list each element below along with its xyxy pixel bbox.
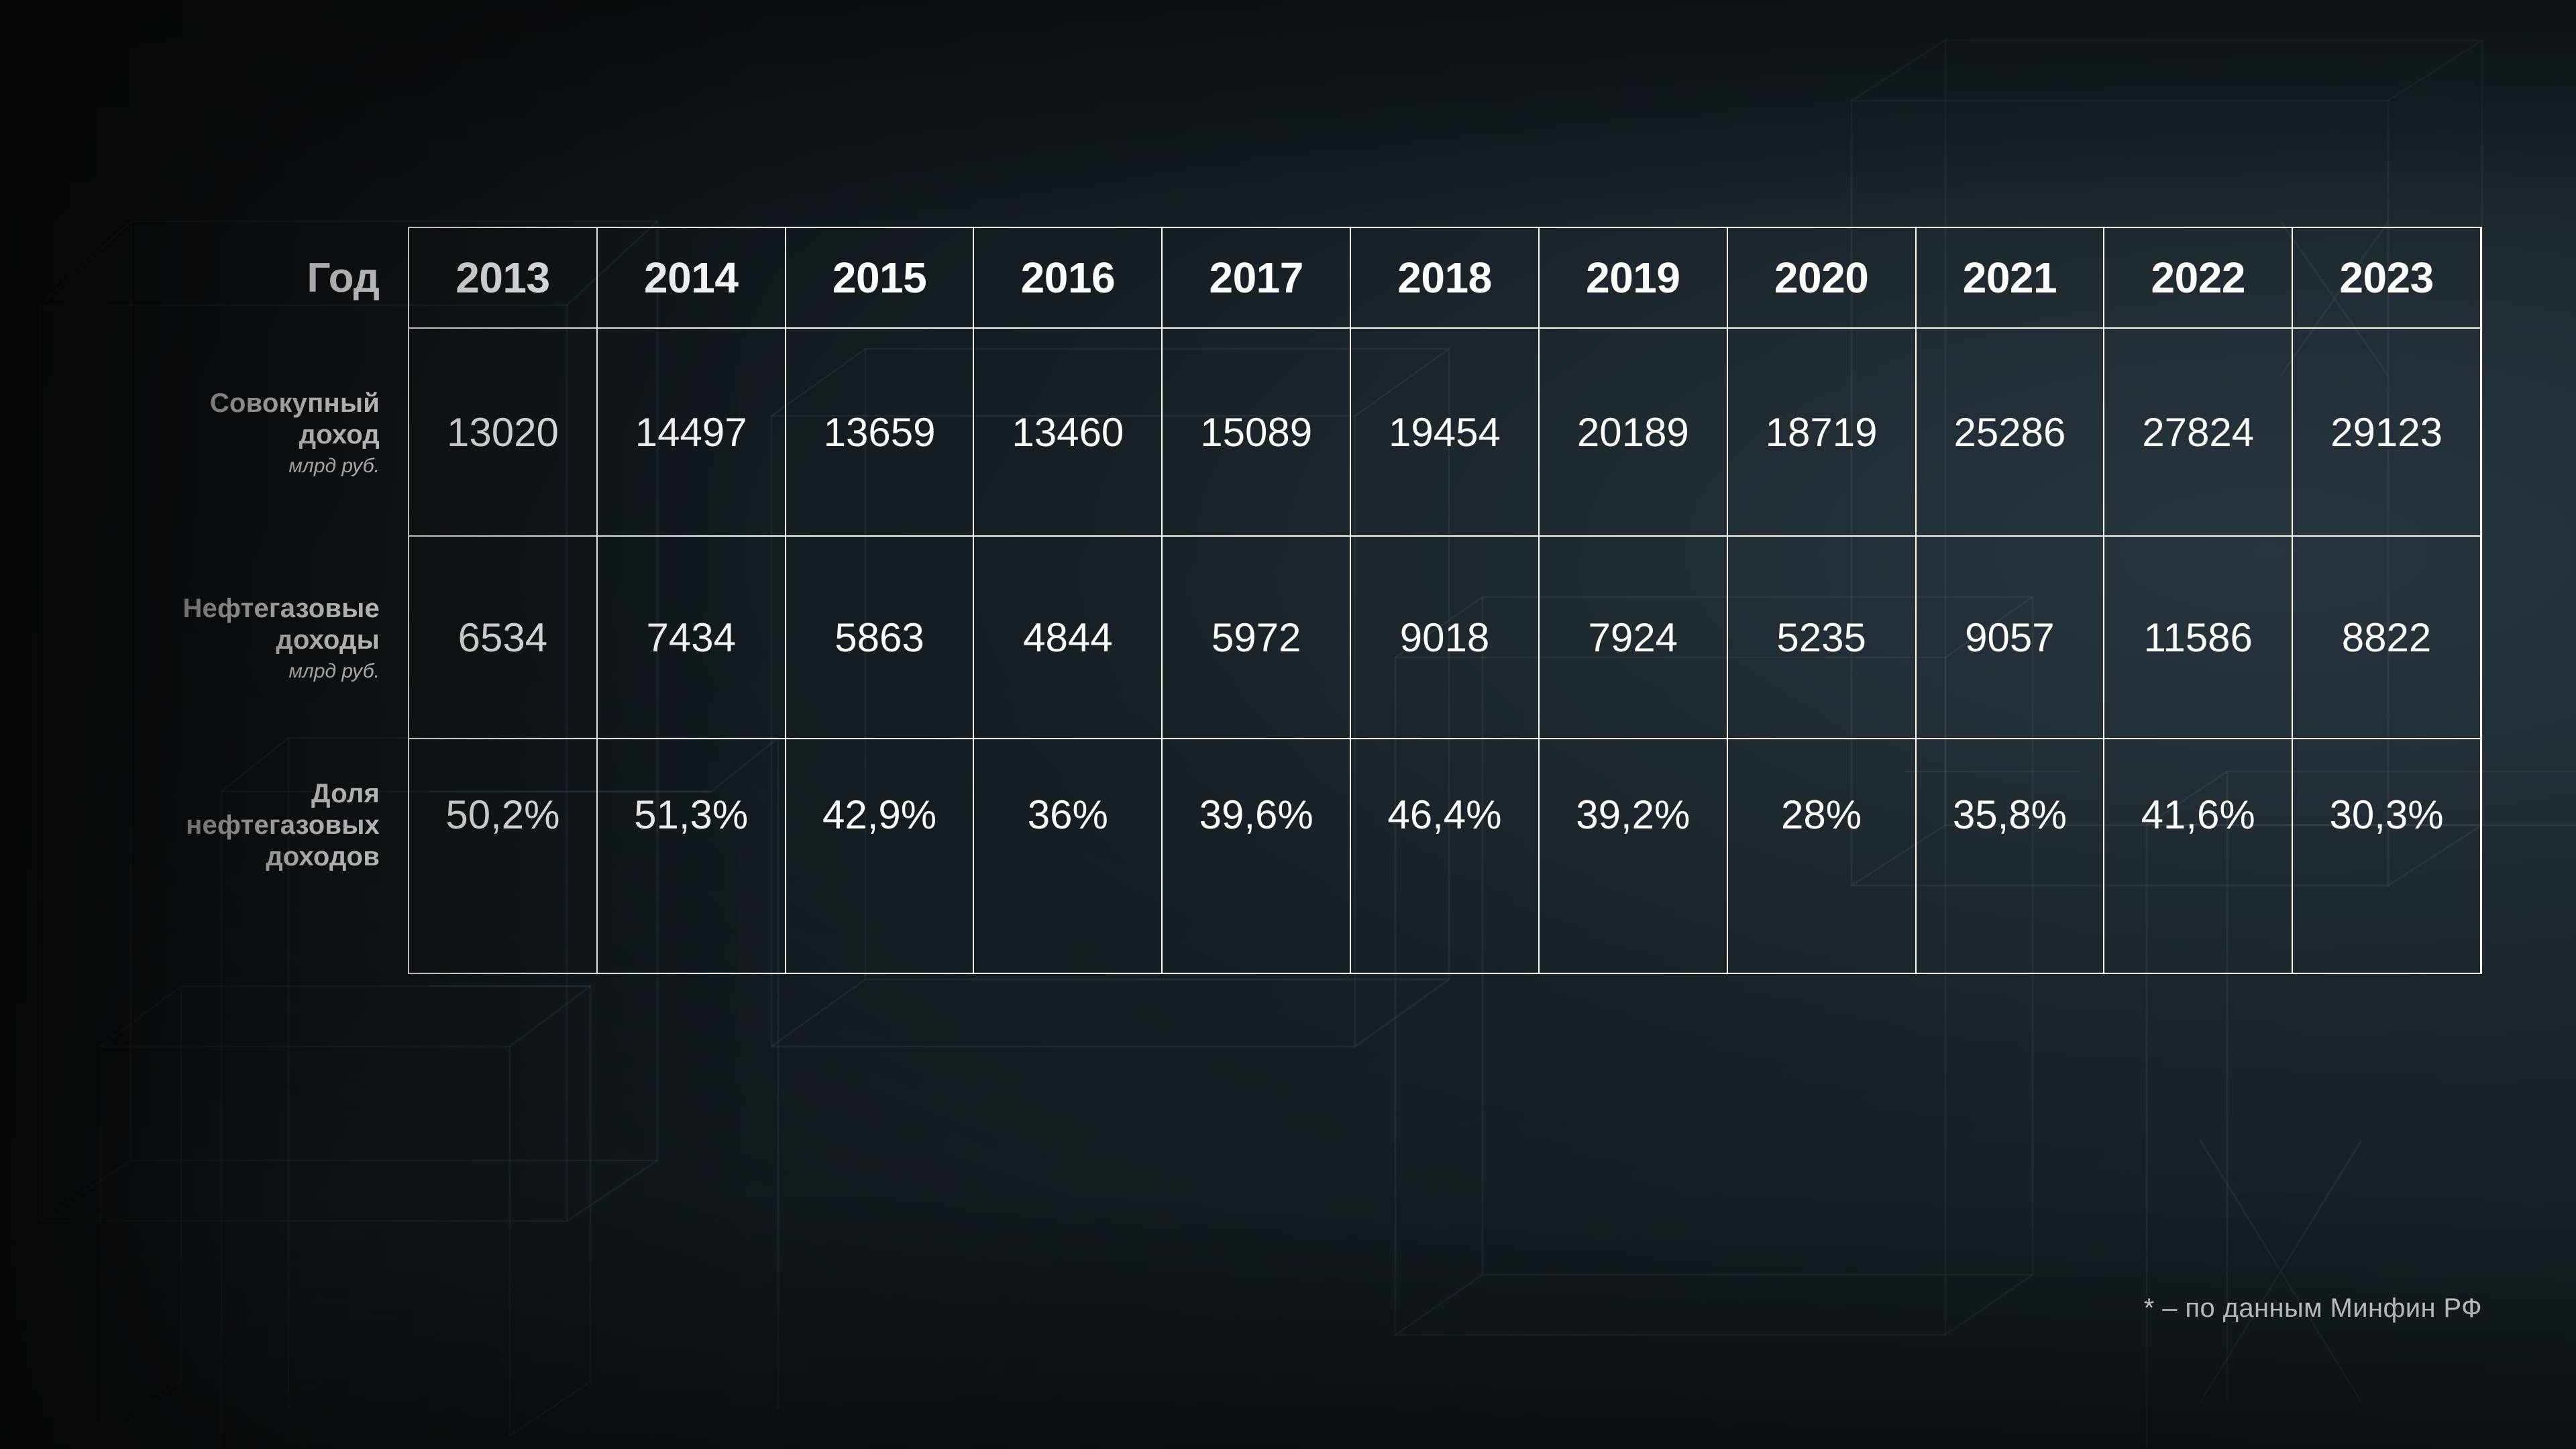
row-label-oil-gas-income-line1: Нефтегазовые — [182, 593, 380, 625]
cell-oil-gas-income: 5863 — [785, 537, 973, 738]
revenue-table: Год Совокупный доход млрд руб. Нефтегазо… — [0, 227, 2482, 974]
cell-total-income: 15089 — [1161, 329, 1350, 535]
cell-total-income: 13460 — [973, 329, 1161, 535]
cell-oil-gas-share: 46,4% — [1350, 739, 1538, 973]
cell-oil-gas-share: 35,8% — [1915, 739, 2104, 973]
row-label-year: Год — [0, 227, 408, 329]
row-label-year-text: Год — [307, 254, 380, 302]
cell-total-income: 27824 — [2103, 329, 2292, 535]
header-cell-year: 2023 — [2292, 228, 2480, 327]
cell-total-income: 18719 — [1727, 329, 1915, 535]
row-label-total-income-line1: Совокупный — [210, 388, 380, 419]
header-cell-year: 2018 — [1350, 228, 1538, 327]
header-cell-year: 2017 — [1161, 228, 1350, 327]
header-cell-year: 2019 — [1538, 228, 1727, 327]
header-cell-year: 2015 — [785, 228, 973, 327]
cell-oil-gas-income: 7434 — [596, 537, 785, 738]
header-cell-year: 2020 — [1727, 228, 1915, 327]
row-label-total-income-unit: млрд руб. — [288, 455, 380, 478]
header-cell-year: 2013 — [409, 228, 596, 327]
cell-total-income: 20189 — [1538, 329, 1727, 535]
row-label-total-income: Совокупный доход млрд руб. — [0, 329, 408, 537]
row-label-oil-gas-share-line2: нефтегазовых — [186, 810, 380, 841]
row-label-column: Год Совокупный доход млрд руб. Нефтегазо… — [0, 227, 408, 974]
cell-oil-gas-share: 36% — [973, 739, 1161, 973]
table-row: 50,2% 51,3% 42,9% 36% 39,6% 46,4% 39,2% … — [409, 738, 2480, 973]
cell-oil-gas-share: 42,9% — [785, 739, 973, 973]
cell-oil-gas-income: 5235 — [1727, 537, 1915, 738]
table-grid: 2013 2014 2015 2016 2017 2018 2019 2020 … — [408, 227, 2482, 974]
table-row: 6534 7434 5863 4844 5972 9018 7924 5235 … — [409, 535, 2480, 738]
cell-oil-gas-share: 39,6% — [1161, 739, 1350, 973]
cell-total-income: 13659 — [785, 329, 973, 535]
row-label-oil-gas-income: Нефтегазовые доходы млрд руб. — [0, 537, 408, 739]
cell-oil-gas-share: 30,3% — [2292, 739, 2480, 973]
cell-oil-gas-share: 39,2% — [1538, 739, 1727, 973]
cell-oil-gas-income: 11586 — [2103, 537, 2292, 738]
cell-oil-gas-income: 5972 — [1161, 537, 1350, 738]
cell-total-income: 13020 — [409, 329, 596, 535]
row-label-oil-gas-share-line3: доходов — [266, 841, 380, 873]
cell-total-income: 25286 — [1915, 329, 2104, 535]
header-cell-year: 2022 — [2103, 228, 2292, 327]
row-label-oil-gas-share-line1: Доля — [311, 778, 380, 810]
cell-oil-gas-income: 9057 — [1915, 537, 2104, 738]
table-header-row: 2013 2014 2015 2016 2017 2018 2019 2020 … — [409, 228, 2480, 327]
row-label-oil-gas-share: Доля нефтегазовых доходов — [0, 739, 408, 974]
cell-total-income: 29123 — [2292, 329, 2480, 535]
cell-total-income: 14497 — [596, 329, 785, 535]
cell-oil-gas-share: 41,6% — [2103, 739, 2292, 973]
cell-oil-gas-income: 8822 — [2292, 537, 2480, 738]
cell-oil-gas-income: 7924 — [1538, 537, 1727, 738]
cell-oil-gas-share: 51,3% — [596, 739, 785, 973]
cell-oil-gas-income: 9018 — [1350, 537, 1538, 738]
cell-oil-gas-income: 6534 — [409, 537, 596, 738]
row-label-oil-gas-income-unit: млрд руб. — [288, 660, 380, 683]
header-cell-year: 2016 — [973, 228, 1161, 327]
table-row: 13020 14497 13659 13460 15089 19454 2018… — [409, 327, 2480, 535]
source-footnote: * – по данным Минфин РФ — [2144, 1293, 2482, 1324]
header-cell-year: 2014 — [596, 228, 785, 327]
row-label-total-income-line2: доход — [299, 419, 380, 451]
slide-root: Год Совокупный доход млрд руб. Нефтегазо… — [0, 0, 2576, 1449]
cell-total-income: 19454 — [1350, 329, 1538, 535]
cell-oil-gas-share: 28% — [1727, 739, 1915, 973]
header-cell-year: 2021 — [1915, 228, 2104, 327]
row-label-oil-gas-income-line2: доходы — [276, 625, 380, 656]
cell-oil-gas-share: 50,2% — [409, 739, 596, 973]
cell-oil-gas-income: 4844 — [973, 537, 1161, 738]
